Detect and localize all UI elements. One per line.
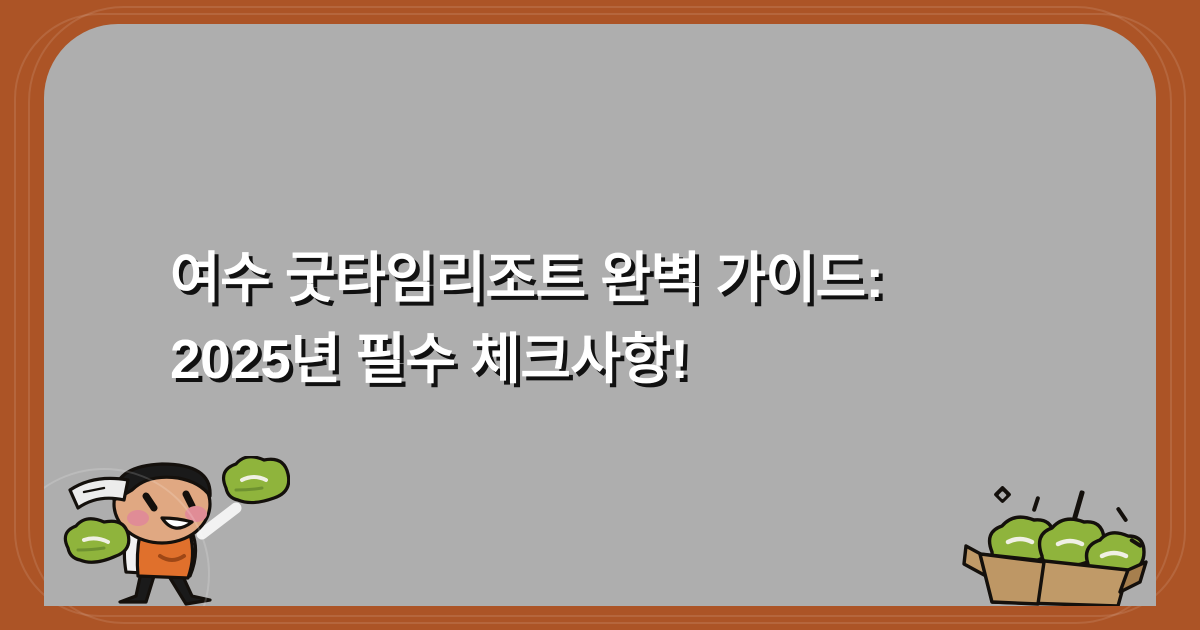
page-title: 여수 굿타임리조트 완벽 가이드: 2025년 필수 체크사항! [44,238,1156,400]
title-line-2: 2025년 필수 체크사항! [124,319,1076,400]
content-panel: 여수 굿타임리조트 완벽 가이드: 2025년 필수 체크사항! [44,24,1156,606]
farmer-character-illustration [50,456,290,606]
cabbage-box-svg [958,466,1148,606]
thumbnail-canvas: 여수 굿타임리조트 완벽 가이드: 2025년 필수 체크사항! [0,0,1200,630]
cabbage-box-illustration [958,466,1148,606]
title-line-1: 여수 굿타임리조트 완벽 가이드: [124,238,1076,319]
